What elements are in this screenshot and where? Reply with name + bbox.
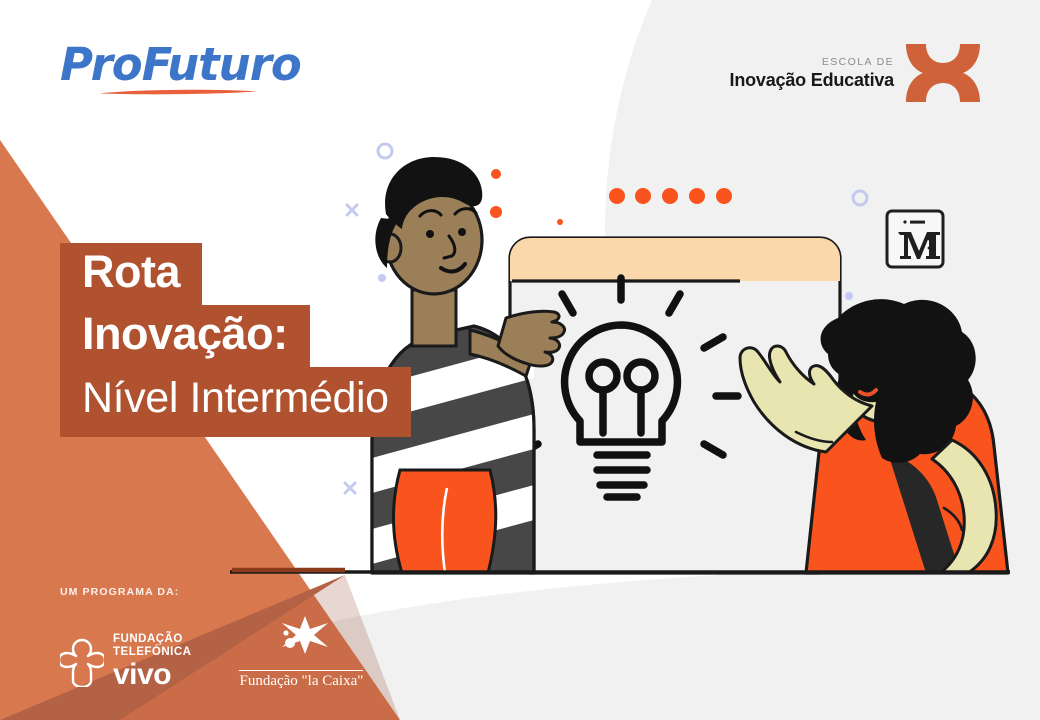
x-mark-icon <box>904 42 982 104</box>
title-line-3: Nível Intermédio <box>60 367 411 437</box>
title-line-1: Rota <box>60 243 202 305</box>
footer-kicker: UM PROGRAMA DA: <box>60 586 363 598</box>
fundacao-la-caixa-logo[interactable]: Fundação "la Caixa" <box>239 614 363 690</box>
la-caixa-wordmark: Fundação "la Caixa" <box>239 670 363 690</box>
profuturo-underline-icon <box>98 88 258 95</box>
escola-kicker: ESCOLA DE <box>730 57 894 68</box>
m-monogram-icon <box>884 208 946 270</box>
slide-canvas: ProFuturo ESCOLA DE Inovação Educativa R… <box>0 0 1040 720</box>
vivo-wordmark: vivo <box>113 660 191 690</box>
page-title: Rota Inovação: Nível Intermédio <box>60 243 411 437</box>
la-caixa-star-icon <box>270 614 332 662</box>
footer-logo-row: FUNDAÇÃO TELEFÓNICA vivo Fundação "la Ca… <box>60 614 363 690</box>
telefonica-person-icon <box>60 637 104 687</box>
escola-name: Inovação Educativa <box>730 71 894 89</box>
fundacao-telefonica-vivo-logo[interactable]: FUNDAÇÃO TELEFÓNICA vivo <box>60 633 191 690</box>
escola-inovacao-logo[interactable]: ESCOLA DE Inovação Educativa <box>730 42 982 104</box>
escola-text-block: ESCOLA DE Inovação Educativa <box>730 57 894 89</box>
title-line-2: Inovação: <box>60 305 310 367</box>
footer-sponsors: UM PROGRAMA DA: FUNDAÇÃO TELEFÓNICA vivo <box>60 586 363 690</box>
profuturo-wordmark: ProFuturo <box>60 40 280 90</box>
telefonica-wordmark: FUNDAÇÃO TELEFÓNICA vivo <box>113 633 191 690</box>
telefonica-line-1: FUNDAÇÃO <box>113 633 191 646</box>
profuturo-logo[interactable]: ProFuturo <box>60 40 280 102</box>
